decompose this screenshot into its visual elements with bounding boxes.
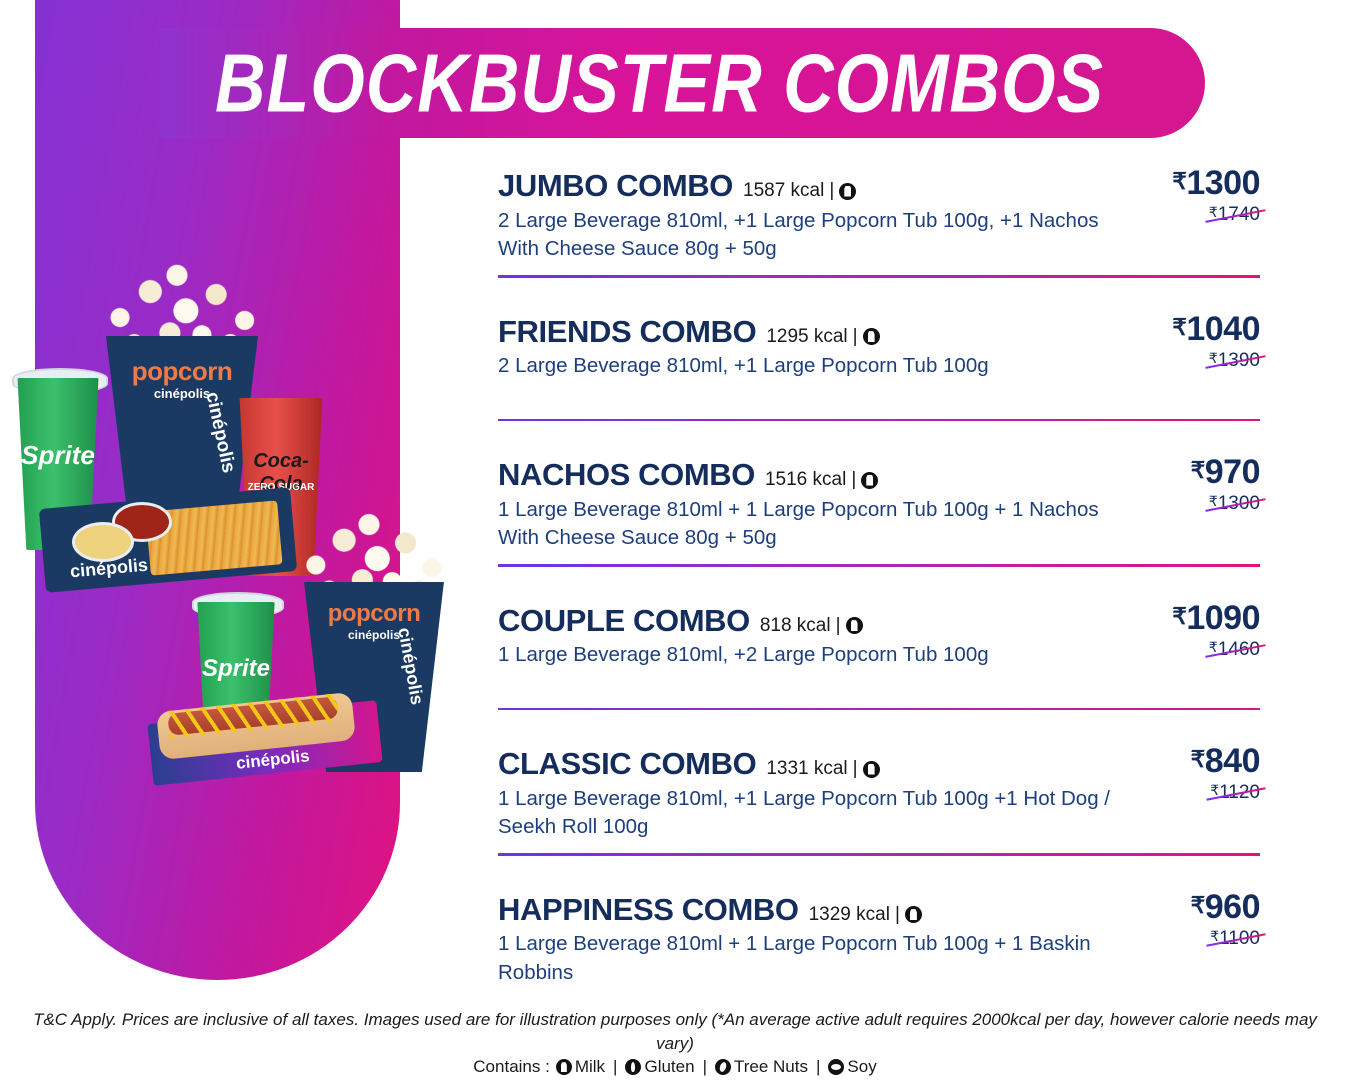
combo-price-value: 960 — [1205, 888, 1260, 926]
combo-price-current: ₹970 — [1110, 455, 1260, 489]
combo-kcal-value: 1329 kcal — [809, 904, 890, 926]
combo-price-original-value: 1460 — [1218, 639, 1260, 660]
combo-price-original-value: 1390 — [1218, 350, 1260, 371]
footer-disclaimer: T&C Apply. Prices are inclusive of all t… — [0, 1008, 1350, 1056]
price-block: ₹1090 ₹1460 — [1110, 601, 1260, 660]
allergen-separator: | — [613, 1057, 617, 1077]
combo-kcal: 1587 kcal | — [743, 180, 856, 202]
item-divider — [498, 419, 1260, 422]
gluten-icon — [625, 1059, 641, 1075]
price-block: ₹840 ₹1120 — [1110, 744, 1260, 803]
milk-icon — [905, 906, 922, 923]
milk-icon — [863, 328, 880, 345]
allergen-milk: Milk — [556, 1057, 605, 1077]
sprite-cup-bottom-label: Sprite — [194, 655, 278, 683]
item-divider — [498, 708, 1260, 711]
combo-price-original: ₹1390 — [1209, 351, 1260, 370]
product-image-collage: popcorn cinépolis cinépolis Sprite Coca-… — [0, 250, 480, 810]
combo-kcal-value: 1295 kcal — [766, 326, 847, 348]
combo-menu-list: JUMBO COMBO 1587 kcal | 2 Large Beverage… — [498, 168, 1260, 1015]
combo-description: 1 Large Beverage 810ml, +1 Large Popcorn… — [498, 785, 1118, 842]
milk-icon — [861, 472, 878, 489]
price-block: ₹1300 ₹1740 — [1110, 166, 1260, 225]
allergen-separator: | — [816, 1057, 820, 1077]
milk-icon — [863, 761, 880, 778]
combo-price-current: ₹960 — [1110, 890, 1260, 924]
kcal-separator: | — [895, 904, 900, 926]
allergen-tree-nuts-label: Tree Nuts — [734, 1057, 808, 1077]
header-banner: BLOCKBUSTER COMBOS — [160, 28, 1205, 138]
price-block: ₹970 ₹1300 — [1110, 455, 1260, 514]
item-divider — [498, 564, 1260, 567]
allergen-separator: | — [703, 1057, 707, 1077]
allergen-soy-label: Soy — [847, 1057, 876, 1077]
kcal-separator: | — [829, 180, 834, 202]
combo-kcal-value: 1331 kcal — [766, 758, 847, 780]
menu-item[interactable]: COUPLE COMBO 818 kcal | 1 Large Beverage… — [498, 581, 1260, 724]
combo-name: COUPLE COMBO — [498, 603, 750, 640]
rupee-symbol: ₹ — [1191, 892, 1205, 918]
rupee-symbol: ₹ — [1191, 746, 1205, 772]
combo-price-original: ₹1100 — [1210, 929, 1260, 948]
soy-icon — [828, 1059, 844, 1075]
sprite-cup-top-label: Sprite — [14, 440, 102, 471]
combo-name: NACHOS COMBO — [498, 457, 755, 494]
milk-icon — [556, 1059, 572, 1075]
tree-nuts-icon — [715, 1059, 731, 1075]
combo-price-original: ₹1460 — [1209, 640, 1260, 659]
rupee-symbol-old: ₹ — [1209, 350, 1218, 366]
combo-name: FRIENDS COMBO — [498, 314, 756, 351]
allergen-gluten: Gluten — [625, 1057, 694, 1077]
combo-price-original: ₹1300 — [1209, 494, 1260, 513]
rupee-symbol: ₹ — [1172, 168, 1186, 194]
combo-price-value: 970 — [1205, 453, 1260, 491]
popcorn-tub-bottom-sub: cinépolis — [282, 628, 466, 642]
combo-price-value: 1090 — [1186, 599, 1260, 637]
combo-kcal: 1295 kcal | — [766, 326, 879, 348]
combo-kcal: 1516 kcal | — [765, 469, 878, 491]
combo-kcal: 1331 kcal | — [766, 758, 879, 780]
page-title: BLOCKBUSTER COMBOS — [215, 42, 1104, 125]
allergen-soy: Soy — [828, 1057, 876, 1077]
menu-item[interactable]: CLASSIC COMBO 1331 kcal | 1 Large Bevera… — [498, 724, 1260, 870]
combo-price-original: ₹1120 — [1210, 783, 1260, 802]
combo-description: 1 Large Beverage 810ml + 1 Large Popcorn… — [498, 496, 1118, 553]
combo-price-original-value: 1300 — [1218, 493, 1260, 514]
rupee-symbol: ₹ — [1172, 603, 1186, 629]
contains-label: Contains : — [473, 1057, 550, 1077]
footer: T&C Apply. Prices are inclusive of all t… — [0, 1008, 1350, 1077]
kcal-separator: | — [851, 469, 856, 491]
combo-name: JUMBO COMBO — [498, 168, 733, 205]
allergen-gluten-label: Gluten — [644, 1057, 694, 1077]
combo-price-current: ₹1090 — [1110, 601, 1260, 635]
milk-icon — [839, 183, 856, 200]
combo-name: HAPPINESS COMBO — [498, 892, 799, 929]
rupee-symbol-old: ₹ — [1210, 782, 1219, 798]
rupee-symbol: ₹ — [1191, 457, 1205, 483]
combo-kcal: 1329 kcal | — [809, 904, 922, 926]
combo-price-value: 840 — [1205, 742, 1260, 780]
menu-item[interactable]: NACHOS COMBO 1516 kcal | 1 Large Beverag… — [498, 435, 1260, 581]
popcorn-tub-top-brand: popcorn — [82, 356, 282, 387]
menu-item[interactable]: HAPPINESS COMBO 1329 kcal | 1 Large Beve… — [498, 870, 1260, 1016]
combo-price-original: ₹1740 — [1209, 205, 1260, 224]
combo-price-current: ₹840 — [1110, 744, 1260, 778]
combo-description: 2 Large Beverage 810ml, +1 Large Popcorn… — [498, 207, 1118, 264]
allergen-milk-label: Milk — [575, 1057, 605, 1077]
combo-price-current: ₹1300 — [1110, 166, 1260, 200]
combo-price-original-value: 1120 — [1219, 782, 1260, 803]
kcal-separator: | — [836, 615, 841, 637]
price-block: ₹960 ₹1100 — [1110, 890, 1260, 949]
price-block: ₹1040 ₹1390 — [1110, 312, 1260, 371]
milk-icon — [846, 617, 863, 634]
combo-description: 1 Large Beverage 810ml + 1 Large Popcorn… — [498, 930, 1118, 987]
combo-price-value: 1040 — [1186, 310, 1260, 348]
rupee-symbol-old: ₹ — [1209, 639, 1218, 655]
allergen-tree-nuts: Tree Nuts — [715, 1057, 808, 1077]
combo-price-value: 1300 — [1186, 164, 1260, 202]
kcal-separator: | — [853, 326, 858, 348]
combo-kcal-value: 818 kcal — [760, 615, 831, 637]
popcorn-tub-bottom-brand: popcorn — [282, 600, 466, 628]
combo-description: 1 Large Beverage 810ml, +2 Large Popcorn… — [498, 641, 1118, 669]
combo-price-original-value: 1740 — [1218, 204, 1260, 225]
footer-allergen-list: Contains : Milk | Gluten | Tree Nuts | S… — [473, 1057, 876, 1077]
rupee-symbol-old: ₹ — [1209, 204, 1218, 220]
rupee-symbol-old: ₹ — [1209, 493, 1218, 509]
combo-kcal: 818 kcal | — [760, 615, 863, 637]
combo-name: CLASSIC COMBO — [498, 746, 756, 783]
item-divider — [498, 275, 1260, 278]
combo-price-current: ₹1040 — [1110, 312, 1260, 346]
combo-kcal-value: 1516 kcal — [765, 469, 846, 491]
rupee-symbol-old: ₹ — [1210, 928, 1219, 944]
combo-kcal-value: 1587 kcal — [743, 180, 824, 202]
menu-item[interactable]: FRIENDS COMBO 1295 kcal | 2 Large Bevera… — [498, 292, 1260, 435]
rupee-symbol: ₹ — [1172, 314, 1186, 340]
kcal-separator: | — [853, 758, 858, 780]
menu-item[interactable]: JUMBO COMBO 1587 kcal | 2 Large Beverage… — [498, 168, 1260, 292]
combo-description: 2 Large Beverage 810ml, +1 Large Popcorn… — [498, 352, 1118, 380]
combo-price-original-value: 1100 — [1219, 928, 1260, 949]
item-divider — [498, 853, 1260, 856]
